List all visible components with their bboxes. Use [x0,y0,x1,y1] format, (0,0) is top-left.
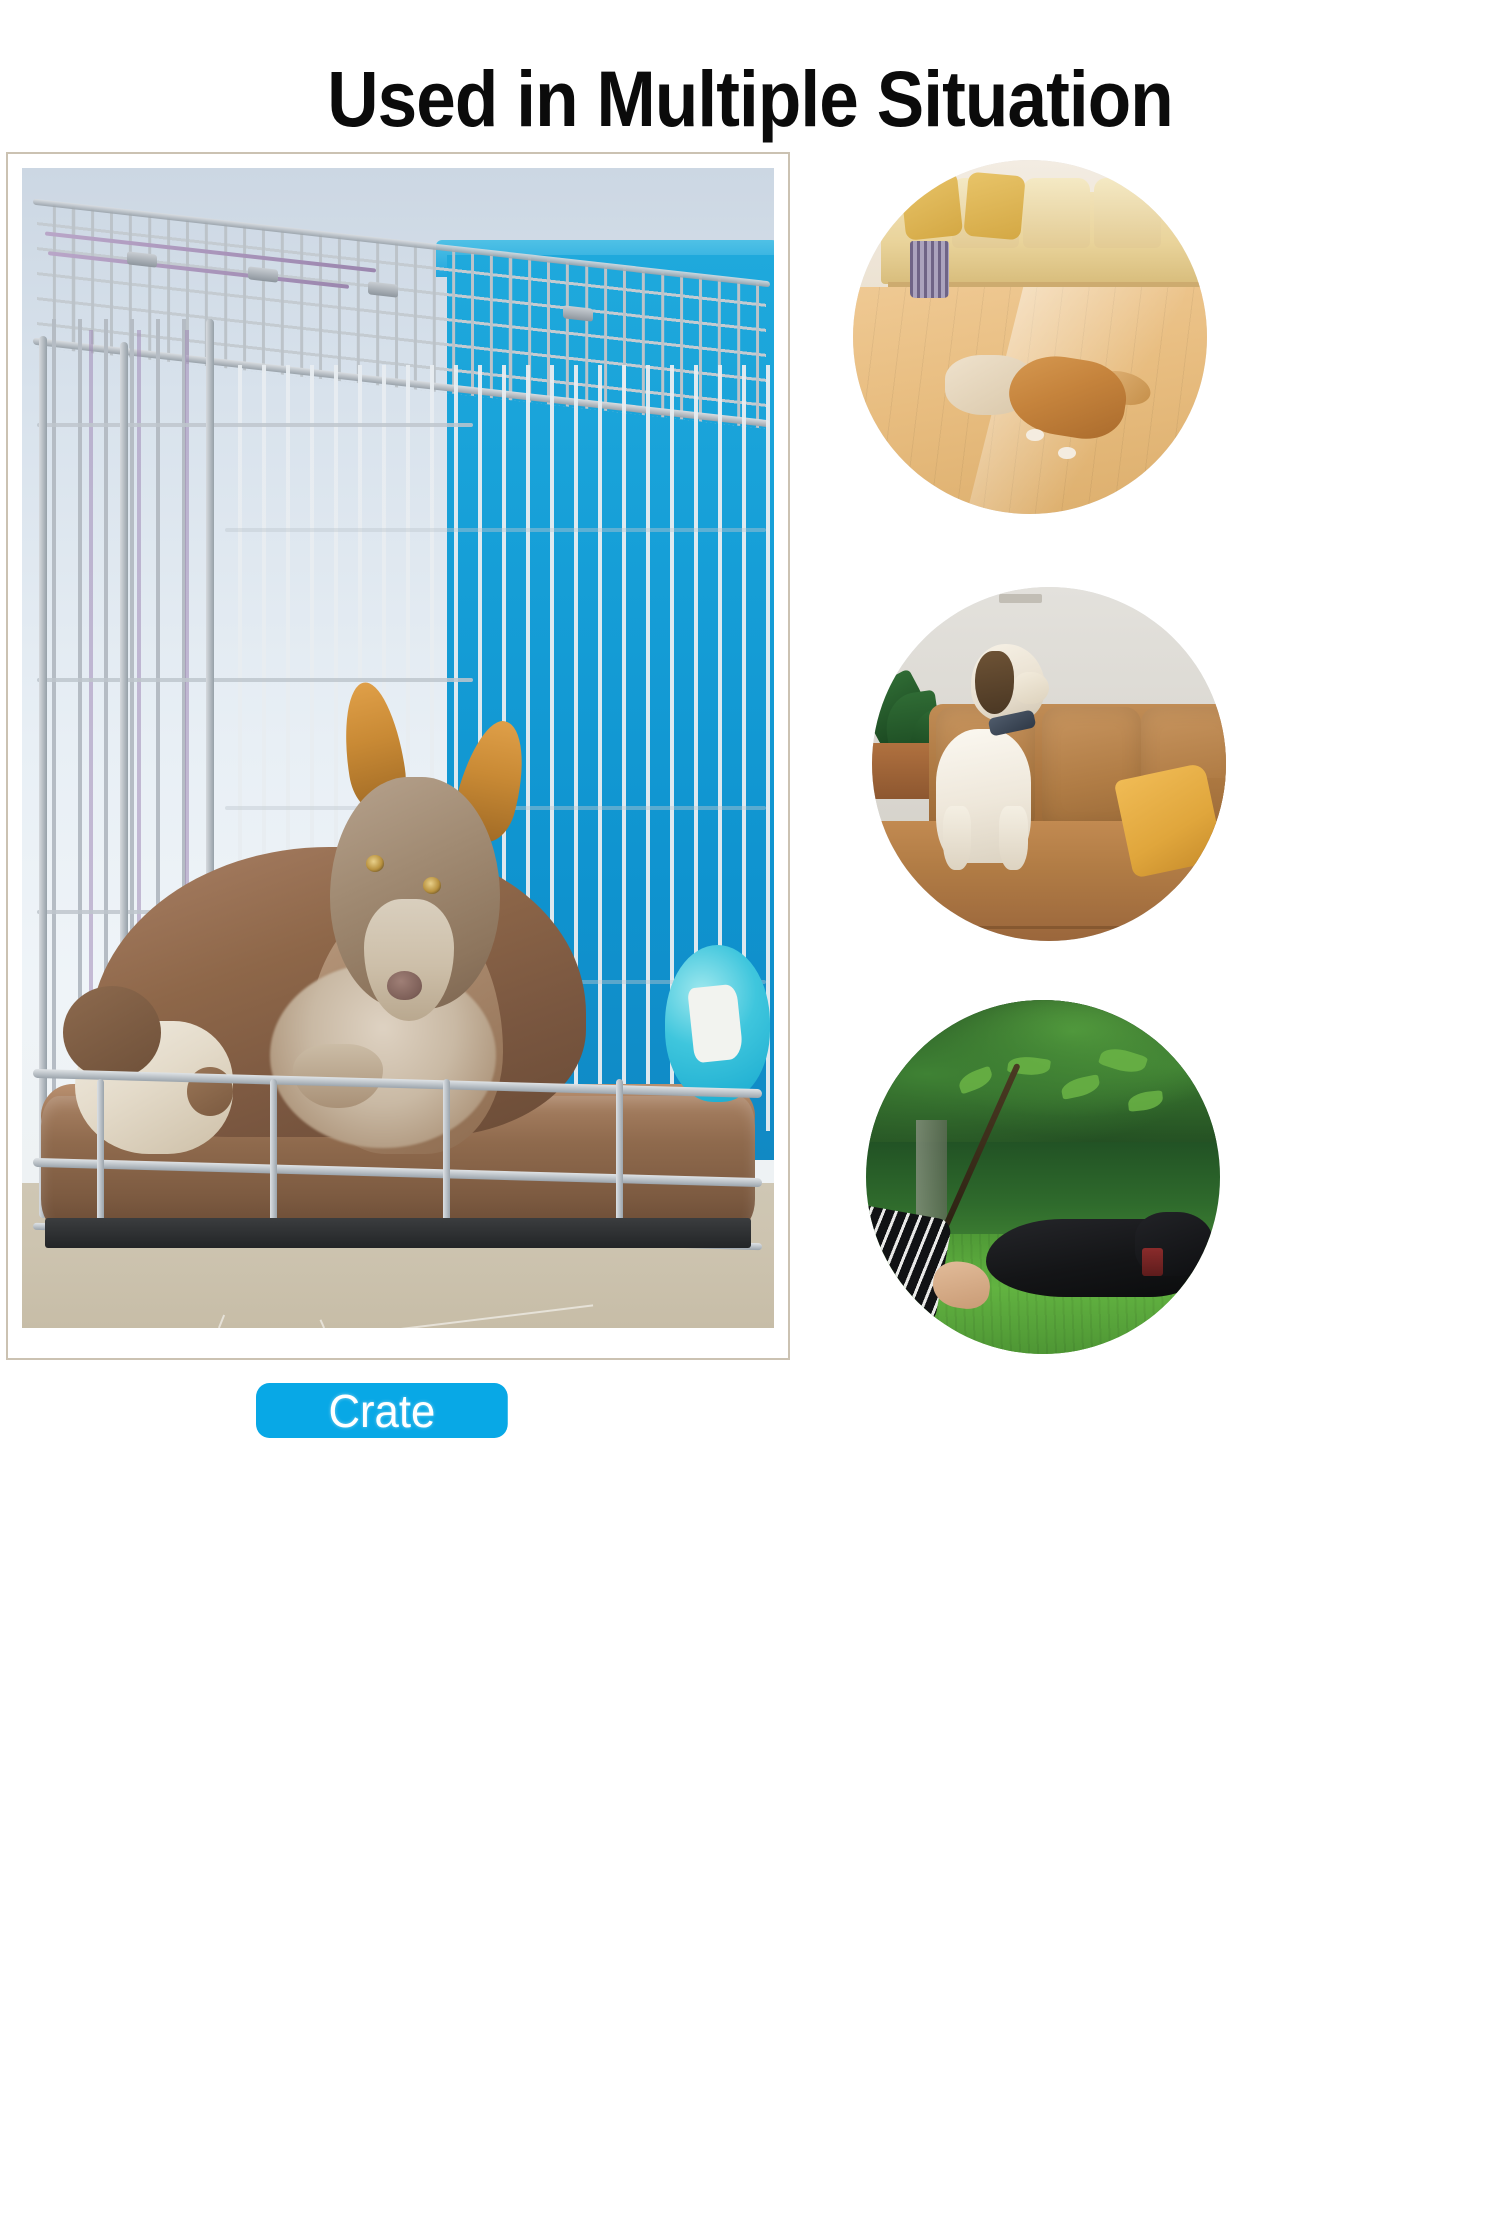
floor-scene-dog-paw [1058,447,1076,459]
crate-h-rail [37,423,473,427]
crate-bottom-stile [616,1079,623,1241]
situation-row-outdoor: Outdoor [866,1000,1220,1354]
dog-nose [387,971,422,1000]
sofa-scene-seat-seam [872,926,1226,929]
sofa-scene-dog-leg [999,806,1027,870]
crate-h-rail [37,678,473,682]
crate-tray [45,1218,752,1248]
crate-bottom-stile [443,1079,450,1241]
plush-toy-head [63,986,161,1079]
dog-eye-left [366,855,384,872]
crate-h-rail [225,528,766,532]
sofa-scene-dog-leg [943,806,971,870]
floor-scene-vase [910,241,949,298]
floor-scene-pillow [899,171,962,240]
situation-row-sofa: Sofa [872,587,1226,941]
crate-clamp-icon [127,251,157,267]
dog-eye-right [423,877,441,894]
outdoor-scene-dog-collar [1142,1248,1163,1276]
wire-crate [22,168,774,1328]
teal-ball-toy-patch [687,983,743,1063]
floor-scene-cushion [1023,178,1090,249]
floor-scene-cushion [1094,178,1161,249]
sofa-scene-wall-vent [999,594,1041,603]
crate-photo-frame [6,152,790,1360]
crate-bottom-stile [270,1079,277,1241]
crate-door-post [39,336,47,1218]
situation-photo-sofa [872,587,1226,941]
page-title: Used in Multiple Situation [75,51,1425,147]
sofa-scene-dog-ear [975,651,1014,715]
situation-photo-outdoor [866,1000,1220,1354]
situation-row-floor: Floor [853,160,1207,514]
crate-bottom-stile [97,1079,104,1241]
label-crate: Crate [256,1383,508,1438]
floor-scene-pillow [964,172,1026,240]
situation-photo-floor [853,160,1207,514]
sofa-scene-dog-snout [1014,672,1049,704]
crate-photo [22,168,774,1328]
